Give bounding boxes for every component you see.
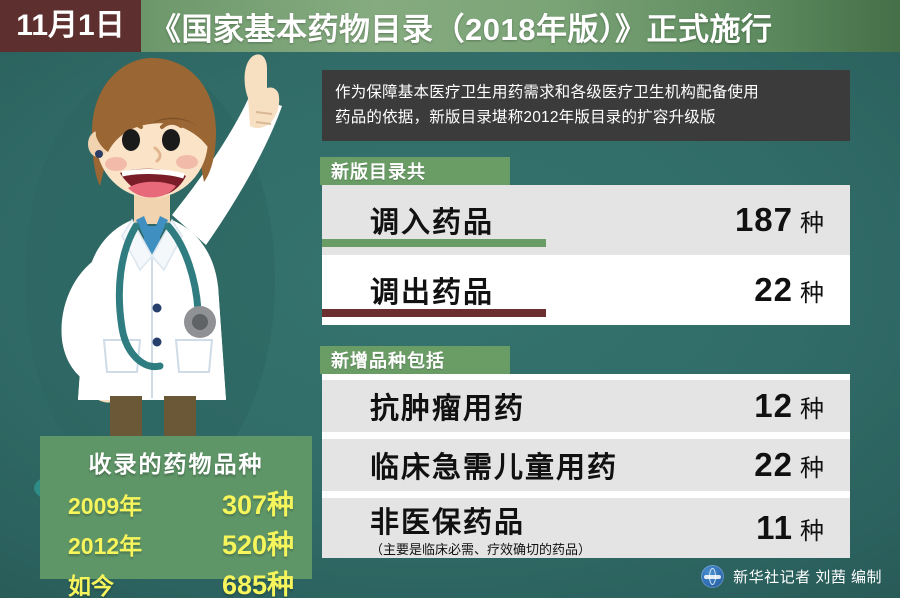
section-card-new-catalog: 调入药品 187 种 调出药品 22 种 bbox=[322, 185, 850, 325]
stat-box-title: 收录的药物品种 bbox=[54, 445, 298, 479]
row-unit: 种 bbox=[800, 389, 824, 424]
row-number: 22 bbox=[754, 271, 793, 309]
section-card-new-additions: 抗肿瘤用药 12 种 临床急需儿童用药 22 种 非医保药品 （主要是临床必需、… bbox=[322, 374, 850, 550]
row-number: 187 bbox=[735, 201, 793, 239]
row-label: 非医保药品 bbox=[370, 499, 591, 541]
coat-button-1 bbox=[153, 304, 162, 313]
row-sublabel: （主要是临床必需、疗效确切的药品） bbox=[370, 539, 591, 558]
row-value: 22 种 bbox=[754, 271, 824, 309]
table-row: 非医保药品 （主要是临床必需、疗效确切的药品） 11 种 bbox=[322, 498, 850, 558]
row-unit: 种 bbox=[800, 203, 824, 238]
row-value: 11 种 bbox=[756, 509, 824, 547]
cheek-left bbox=[105, 157, 127, 171]
stat-count: 520种 bbox=[222, 523, 294, 562]
stat-year: 2012年 bbox=[68, 527, 142, 561]
stat-row: 2012年 520种 bbox=[54, 523, 298, 562]
row-value: 12 种 bbox=[754, 387, 824, 425]
row-accent-bar-maroon bbox=[322, 309, 546, 317]
row-unit: 种 bbox=[800, 273, 824, 308]
description-line-2: 药品的依据，新版目录堪称2012年版目录的扩容升级版 bbox=[335, 105, 838, 130]
table-row: 临床急需儿童用药 22 种 bbox=[322, 439, 850, 491]
row-label: 临床急需儿童用药 bbox=[370, 444, 618, 486]
row-unit: 种 bbox=[800, 448, 824, 483]
stat-row: 如今 685种 bbox=[54, 563, 298, 598]
eye-right bbox=[162, 129, 180, 151]
row-label: 抗肿瘤用药 bbox=[370, 385, 525, 427]
credit-text: 新华社记者 刘茜 编制 bbox=[733, 566, 882, 587]
earring bbox=[95, 150, 103, 158]
date-badge-text: 11月1日 bbox=[16, 11, 124, 41]
table-row: 调出药品 22 种 bbox=[322, 255, 850, 325]
infographic-poster: 11月1日 《国家基本药物目录（2018年版）》正式施行 bbox=[0, 0, 900, 598]
row-number: 22 bbox=[754, 446, 793, 484]
row-number: 11 bbox=[756, 509, 793, 547]
xinhua-logo-icon bbox=[701, 565, 724, 588]
stat-box-recorded-drug-types: 收录的药物品种 2009年 307种 2012年 520种 如今 685种 bbox=[40, 436, 312, 579]
section-tab-new-additions: 新增品种包括 bbox=[320, 346, 510, 374]
stat-row: 2009年 307种 bbox=[54, 483, 298, 522]
raised-hand bbox=[245, 54, 280, 128]
stethoscope-diaphragm bbox=[192, 314, 208, 330]
cheek-right bbox=[176, 155, 198, 169]
row-unit: 种 bbox=[800, 511, 824, 546]
description-box: 作为保障基本医疗卫生用药需求和各级医疗卫生机构配备使用 药品的依据，新版目录堪称… bbox=[322, 70, 850, 141]
row-label-stack: 非医保药品 （主要是临床必需、疗效确切的药品） bbox=[370, 499, 591, 558]
stat-count: 307种 bbox=[222, 483, 294, 522]
table-row: 调入药品 187 种 bbox=[322, 185, 850, 255]
coat-button-2 bbox=[153, 338, 162, 347]
row-number: 12 bbox=[754, 387, 793, 425]
table-row: 抗肿瘤用药 12 种 bbox=[322, 380, 850, 432]
description-line-1: 作为保障基本医疗卫生用药需求和各级医疗卫生机构配备使用 bbox=[335, 80, 838, 105]
credit-line: 新华社记者 刘茜 编制 bbox=[701, 565, 882, 588]
row-label: 调出药品 bbox=[370, 269, 494, 311]
stat-count: 685种 bbox=[222, 563, 294, 598]
row-accent-bar-green bbox=[322, 239, 546, 247]
row-label: 调入药品 bbox=[370, 199, 494, 241]
row-value: 22 种 bbox=[754, 446, 824, 484]
eye-left bbox=[122, 129, 140, 151]
section-tab-new-catalog: 新版目录共 bbox=[320, 157, 510, 185]
stat-year: 2009年 bbox=[68, 487, 142, 521]
stat-year: 如今 bbox=[68, 567, 114, 598]
row-value: 187 种 bbox=[735, 201, 824, 239]
